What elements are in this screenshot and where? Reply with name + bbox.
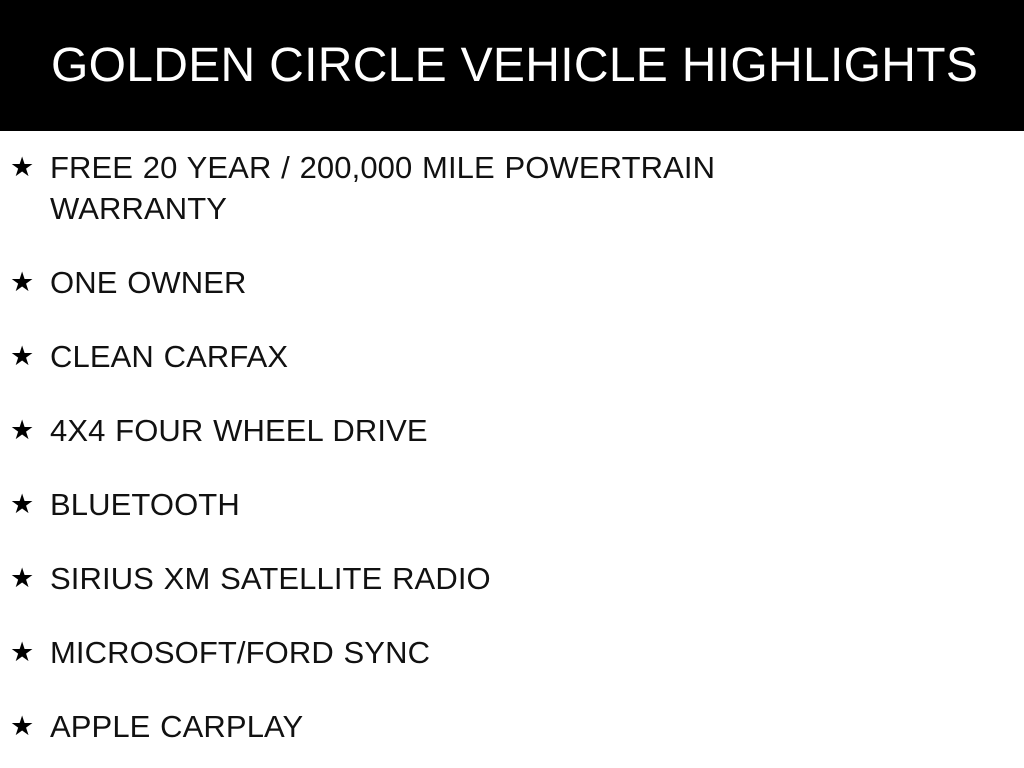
header-band: GOLDEN CIRCLE VEHICLE HIGHLIGHTS <box>0 0 1024 131</box>
highlight-label: APPLE CARPLAY <box>50 706 815 747</box>
highlights-list: ★ FREE 20 YEAR / 200,000 MILE POWERTRAIN… <box>0 131 1024 768</box>
highlight-label: SIRIUS XM SATELLITE RADIO <box>50 558 815 599</box>
vehicle-highlights-page: GOLDEN CIRCLE VEHICLE HIGHLIGHTS ★ FREE … <box>0 0 1024 768</box>
list-item: ★ CLEAN CARFAX <box>0 336 1024 377</box>
list-item: ★ ONE OWNER <box>0 262 1024 303</box>
star-icon: ★ <box>10 632 50 673</box>
star-icon: ★ <box>10 147 50 188</box>
star-icon: ★ <box>10 410 50 451</box>
highlight-label: BLUETOOTH <box>50 484 815 525</box>
list-item: ★ SIRIUS XM SATELLITE RADIO <box>0 558 1024 599</box>
star-icon: ★ <box>10 262 50 303</box>
star-icon: ★ <box>10 484 50 525</box>
highlight-label: CLEAN CARFAX <box>50 336 815 377</box>
list-item: ★ MICROSOFT/FORD SYNC <box>0 632 1024 673</box>
star-icon: ★ <box>10 706 50 747</box>
list-item: ★ APPLE CARPLAY <box>0 706 1024 747</box>
highlight-label: FREE 20 YEAR / 200,000 MILE POWERTRAIN W… <box>50 147 815 229</box>
page-title: GOLDEN CIRCLE VEHICLE HIGHLIGHTS <box>51 42 978 90</box>
list-item: ★ FREE 20 YEAR / 200,000 MILE POWERTRAIN… <box>0 147 1024 229</box>
highlight-label: ONE OWNER <box>50 262 815 303</box>
star-icon: ★ <box>10 336 50 377</box>
highlight-label: 4X4 FOUR WHEEL DRIVE <box>50 410 815 451</box>
highlight-label: MICROSOFT/FORD SYNC <box>50 632 815 673</box>
star-icon: ★ <box>10 558 50 599</box>
list-item: ★ 4X4 FOUR WHEEL DRIVE <box>0 410 1024 451</box>
list-item: ★ BLUETOOTH <box>0 484 1024 525</box>
